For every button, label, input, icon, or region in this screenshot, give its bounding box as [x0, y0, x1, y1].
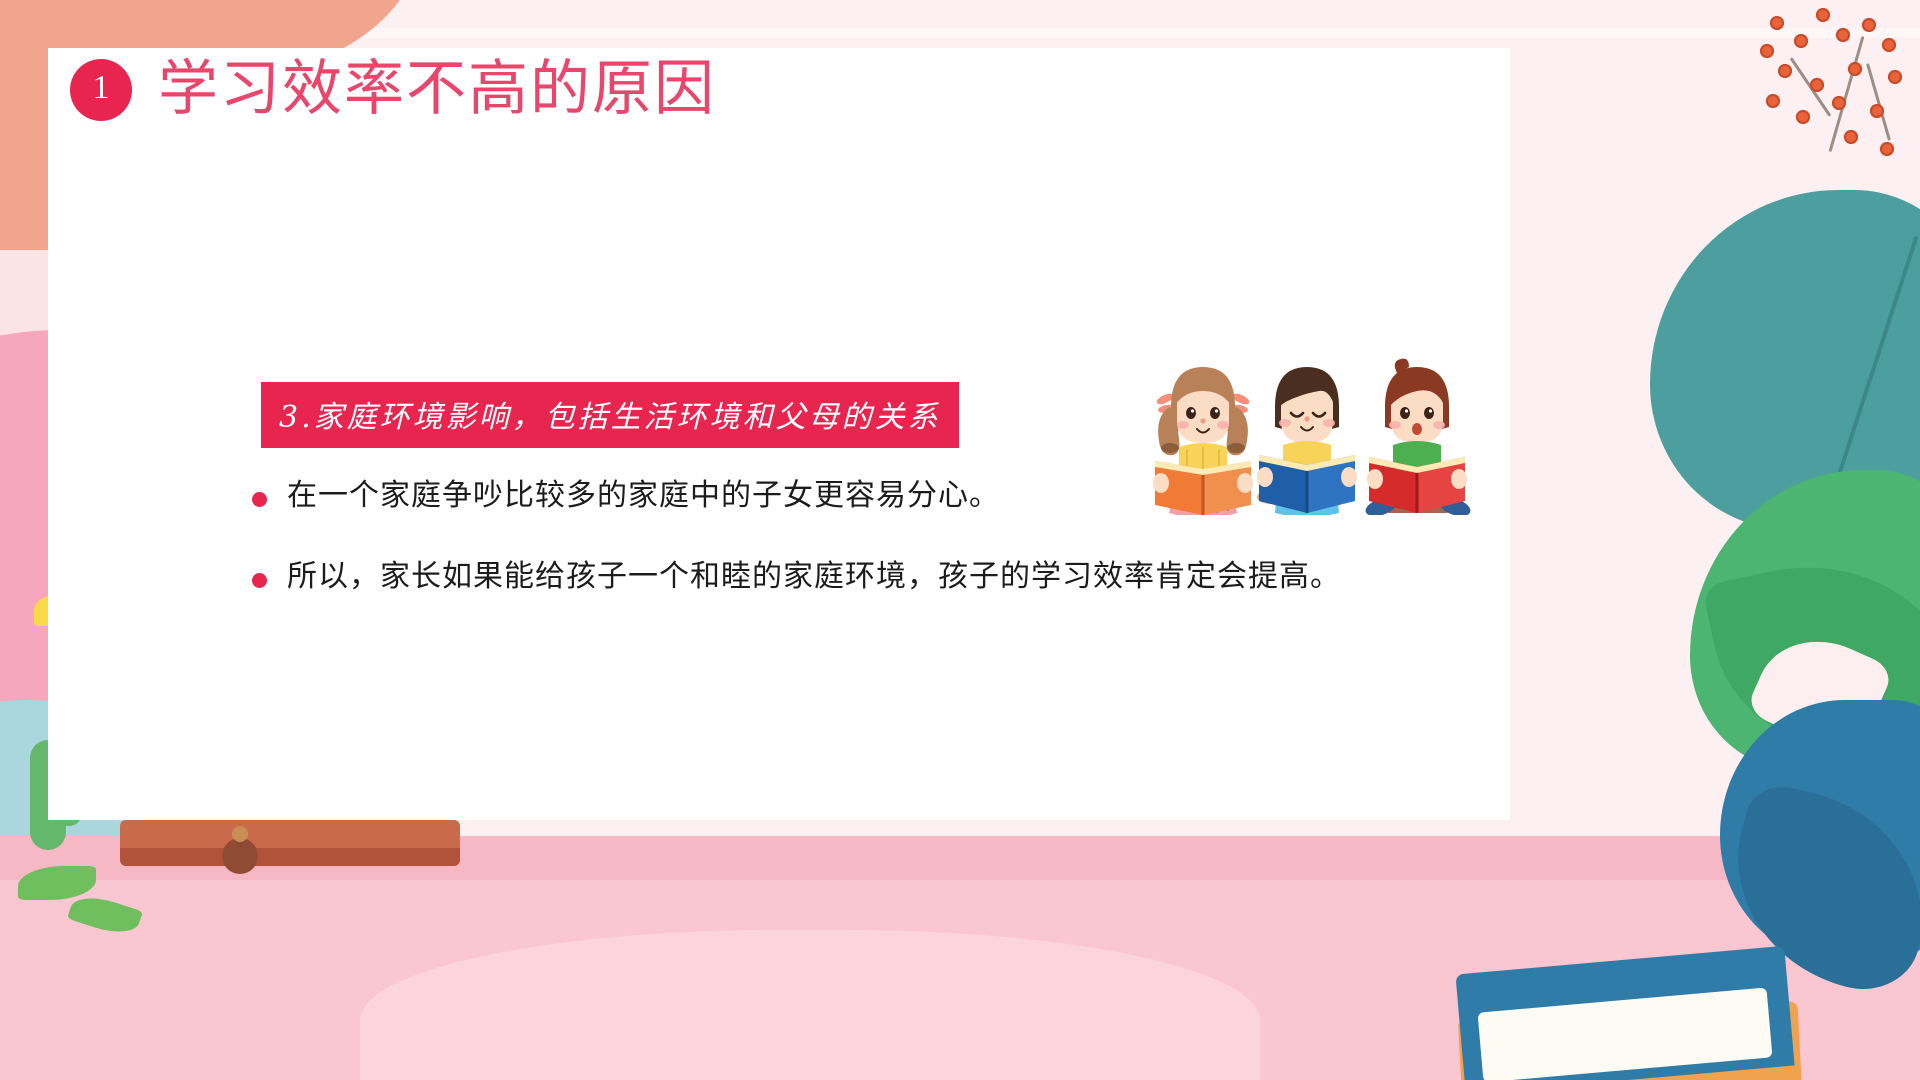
berry-icon: [1796, 110, 1810, 124]
bullet-text: 在一个家庭争吵比较多的家庭中的子女更容易分心。: [287, 476, 1000, 517]
berry-icon: [1810, 78, 1824, 92]
berry-icon: [1848, 62, 1862, 76]
slide-canvas: 1 学习效率不高的原因 3.家庭环境影响，包括生活环境和父母的关系 在一个家庭争…: [0, 0, 1920, 1080]
page-title: 学习效率不高的原因: [158, 58, 716, 121]
berry-icon: [1882, 38, 1896, 52]
berry-icon: [1760, 44, 1774, 58]
boy-reading-red-book: [1363, 359, 1472, 515]
berry-icon: [1870, 104, 1884, 118]
bullet-text: 所以，家长如果能给孩子一个和睦的家庭环境，孩子的学习效率肯定会提高。: [287, 557, 1341, 598]
berry-icon: [1770, 16, 1784, 30]
three-children-reading-illustration: [1145, 355, 1475, 515]
berry-icon: [1836, 28, 1850, 42]
berry-icon: [1862, 18, 1876, 32]
berry-icon: [1880, 142, 1894, 156]
section-banner: 3.家庭环境影响，包括生活环境和父母的关系: [261, 382, 959, 448]
brown-ball-shape: [222, 838, 258, 874]
bullet-dot-icon: [252, 573, 267, 588]
brown-ball-highlight: [232, 826, 248, 842]
berry-icon: [1766, 94, 1780, 108]
brown-shelf-shadow: [120, 848, 460, 866]
berry-icon: [1778, 64, 1792, 78]
berry-icon: [1888, 70, 1902, 84]
berry-icon: [1794, 34, 1808, 48]
list-item: 所以，家长如果能给孩子一个和睦的家庭环境，孩子的学习效率肯定会提高。: [252, 557, 1432, 598]
section-number-badge: 1: [70, 59, 132, 121]
slide-header: 1 学习效率不高的原因: [70, 58, 716, 121]
berry-icon: [1816, 8, 1830, 22]
berry-icon: [1844, 130, 1858, 144]
bullet-dot-icon: [252, 492, 267, 507]
berry-icon: [1832, 96, 1846, 110]
boy-reading-blue-book: [1257, 367, 1357, 515]
girl-reading-orange-book: [1153, 367, 1253, 515]
